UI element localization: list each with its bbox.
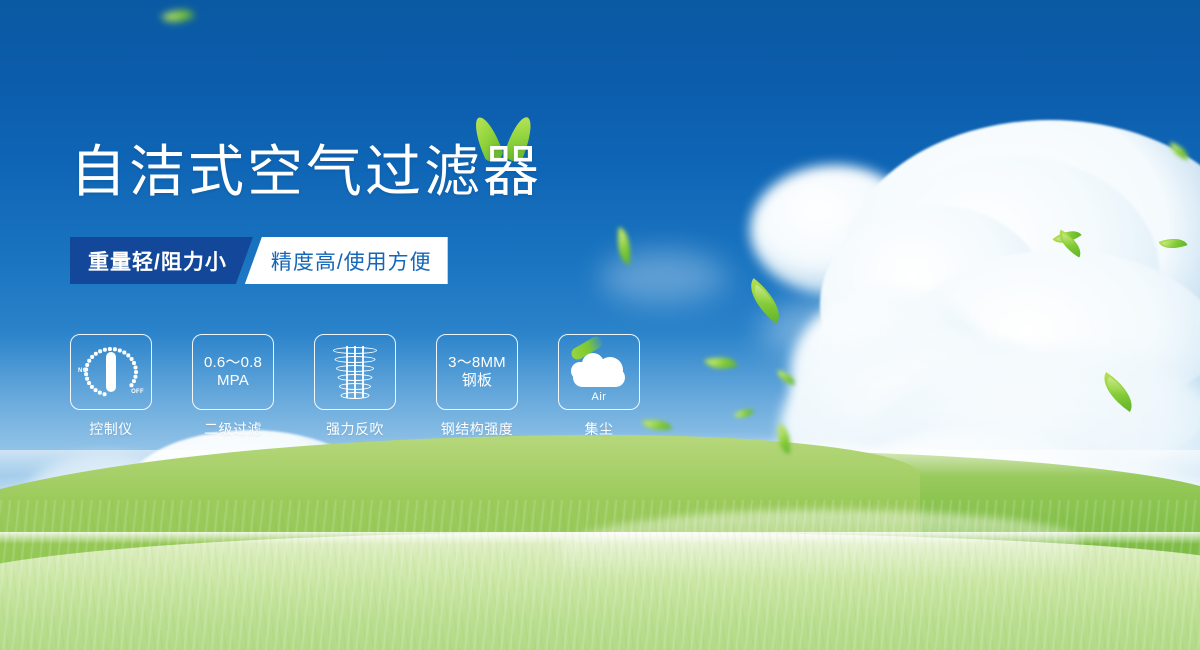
steel-thickness: 3〜8MM (448, 354, 506, 372)
gauge-dot (130, 384, 133, 387)
gauge-dot (94, 388, 97, 391)
gauge-label-off: OFF (131, 389, 144, 395)
gauge-dot (94, 352, 97, 355)
blowback-bar (346, 346, 348, 398)
gauge-dot (98, 391, 101, 394)
feature-icon-box: NO OFF (70, 334, 152, 410)
blowback-bar (354, 346, 356, 398)
product-hero-banner: 自洁式空气过滤器 重量轻/阻力小 精度高/使用方便 NO OFF 控制仪 0.6… (0, 0, 1200, 650)
feature-label: 集尘 (585, 419, 614, 439)
blowback-bar (362, 346, 364, 398)
feature-icon-box (314, 334, 396, 410)
gauge-dot (103, 348, 106, 351)
grass-texture (0, 500, 1200, 650)
gauge-dot (132, 379, 135, 382)
gauge-dot (134, 370, 137, 373)
pressure-unit: MPA (204, 372, 262, 390)
feature-icon-box: Air (558, 334, 640, 410)
gauge-dot (108, 347, 111, 350)
gauge-dot (103, 393, 106, 396)
gauge-dot (134, 366, 137, 369)
feature-item-controller[interactable]: NO OFF 控制仪 (70, 334, 152, 439)
feature-item-filtration[interactable]: 0.6〜0.8 MPA 二级过滤 (192, 334, 274, 439)
steel-icon: 3〜8MM 钢板 (448, 354, 506, 389)
subtitle-bar: 重量轻/阻力小 精度高/使用方便 (70, 237, 448, 284)
gauge-dot (84, 372, 87, 375)
feature-label: 强力反吹 (326, 419, 384, 439)
subtitle-left-segment: 重量轻/阻力小 (70, 237, 253, 284)
gauge-icon: NO OFF (80, 343, 142, 401)
subtitle-right-segment: 精度高/使用方便 (245, 237, 448, 284)
gauge-dot (90, 385, 93, 388)
gauge-dot (98, 350, 101, 353)
feature-icon-box: 0.6〜0.8 MPA (192, 334, 274, 410)
gauge-dot (118, 349, 121, 352)
gauge-needle (106, 352, 116, 392)
gauge-dot (130, 357, 133, 360)
blowback-icon (328, 343, 382, 401)
cloud-base (573, 368, 625, 387)
floating-leaf (161, 2, 195, 30)
feature-label: 控制仪 (89, 419, 133, 439)
pressure-value: 0.6〜0.8 (204, 354, 262, 372)
gauge-dot (88, 359, 91, 362)
gauge-dot (86, 363, 89, 366)
gauge-dot (87, 381, 90, 384)
feature-label: 二级过滤 (204, 419, 262, 439)
page-title: 自洁式空气过滤器 (70, 142, 542, 201)
feature-label: 钢结构强度 (441, 419, 514, 439)
steel-material: 钢板 (448, 372, 506, 390)
feature-list: NO OFF 控制仪 0.6〜0.8 MPA 二级过滤 (70, 334, 640, 439)
feature-icon-box: 3〜8MM 钢板 (436, 334, 518, 410)
gauge-dot (90, 355, 93, 358)
feature-item-blowback[interactable]: 强力反吹 (314, 334, 396, 439)
air-cloud-icon: Air (569, 344, 629, 400)
gauge-dot (134, 375, 137, 378)
wispy-cloud (600, 250, 730, 305)
gauge-dot (85, 377, 88, 380)
pressure-icon: 0.6〜0.8 MPA (204, 354, 262, 389)
gauge-dot (132, 361, 135, 364)
feature-item-dust[interactable]: Air 集尘 (558, 334, 640, 439)
gauge-dot (113, 348, 116, 351)
feature-item-steel[interactable]: 3〜8MM 钢板 钢结构强度 (436, 334, 518, 439)
gauge-dot (123, 351, 126, 354)
air-label: Air (569, 391, 629, 403)
